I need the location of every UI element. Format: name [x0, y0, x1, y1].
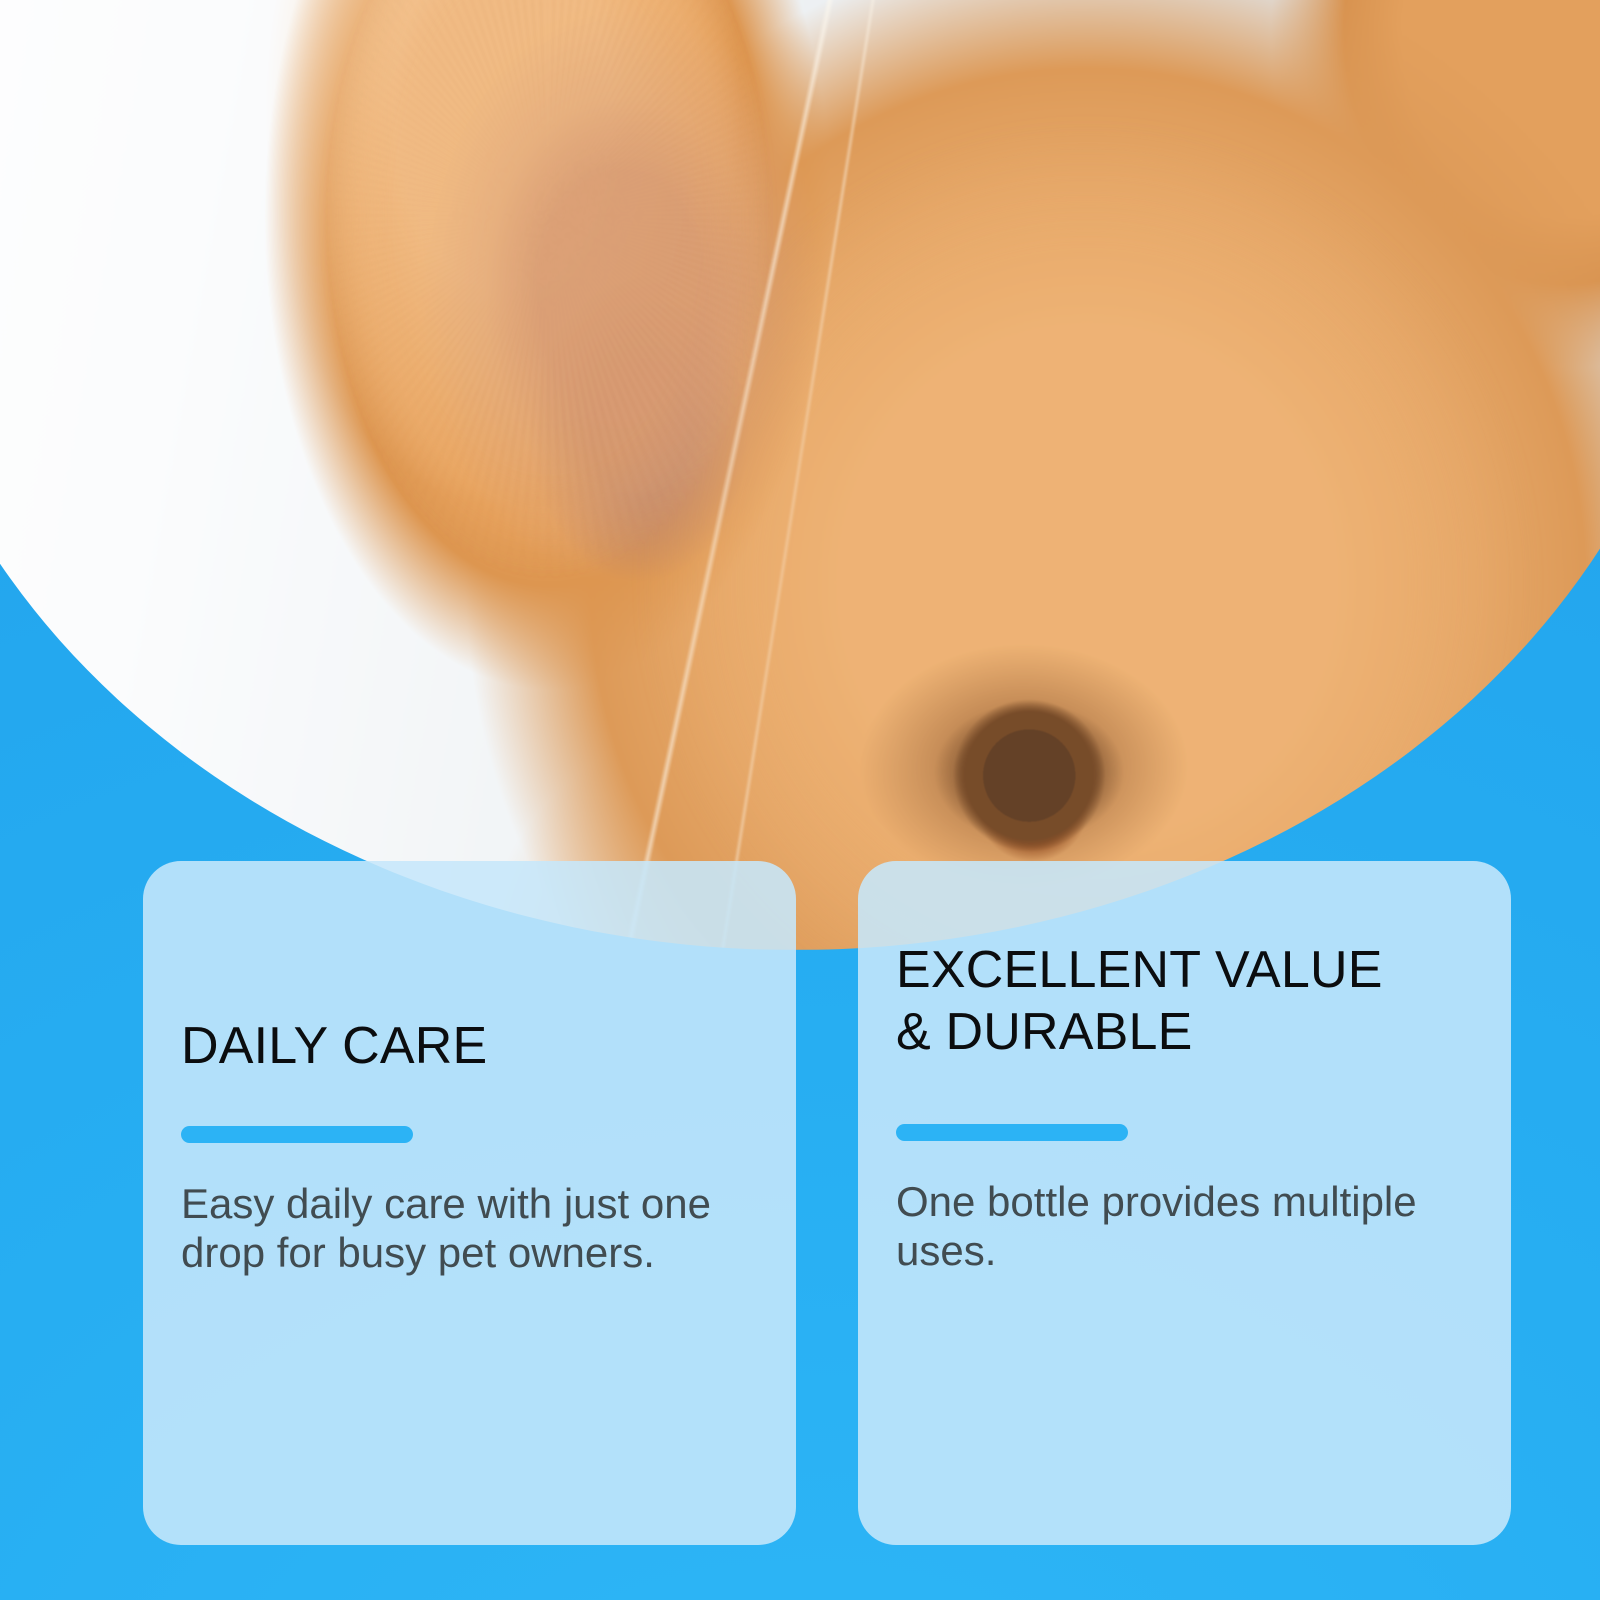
- card-content: EXCELLENT VALUE & DURABLE One bottle pro…: [896, 861, 1477, 1545]
- fur-strands-texture: [0, 0, 1600, 950]
- feature-card-excellent-value[interactable]: EXCELLENT VALUE & DURABLE One bottle pro…: [858, 861, 1511, 1545]
- card-body-text: One bottle provides multiple uses.: [896, 1177, 1477, 1275]
- feature-card-daily-care[interactable]: DAILY CARE Easy daily care with just one…: [143, 861, 796, 1545]
- card-title: EXCELLENT VALUE & DURABLE: [896, 939, 1477, 1063]
- card-title: DAILY CARE: [181, 1015, 762, 1077]
- accent-rule: [896, 1124, 1128, 1141]
- hero-photo-circle: [0, 0, 1600, 950]
- feature-cards: DAILY CARE Easy daily care with just one…: [143, 861, 1511, 1545]
- card-content: DAILY CARE Easy daily care with just one…: [181, 861, 762, 1545]
- accent-rule: [181, 1126, 413, 1143]
- card-body-text: Easy daily care with just one drop for b…: [181, 1179, 762, 1277]
